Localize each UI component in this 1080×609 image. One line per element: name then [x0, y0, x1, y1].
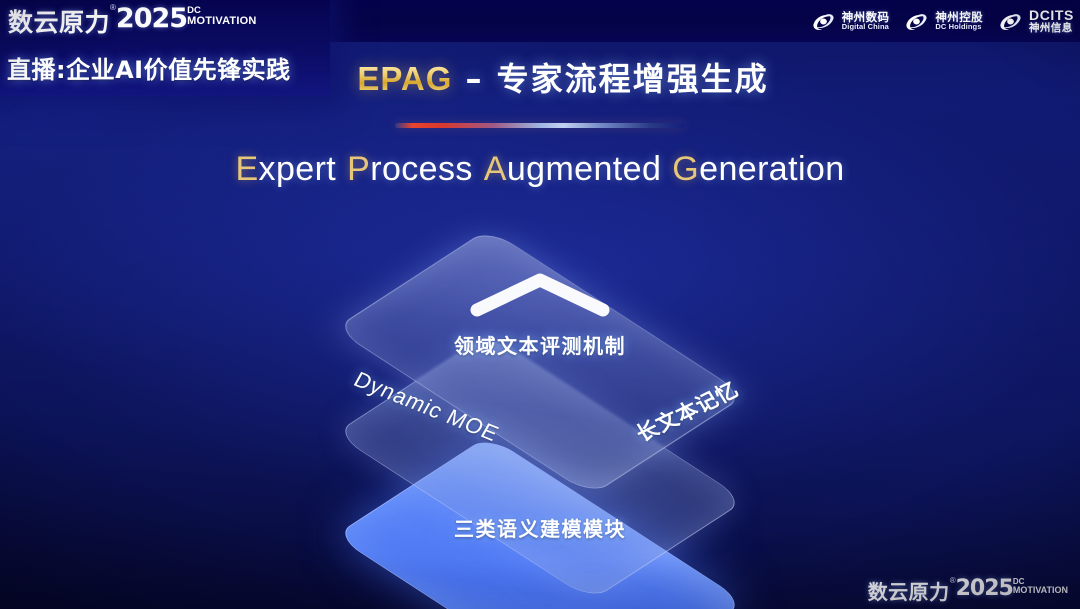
- brand-dc-motivation: DC MOTIVATION: [187, 6, 256, 27]
- partner-name-en: Digital China: [842, 23, 890, 31]
- partner-name-en: DCITS: [1029, 8, 1074, 23]
- chevron-up-icon: [465, 268, 615, 320]
- subtitle-word-generation: Generation: [672, 150, 844, 188]
- subtitle-initial: P: [347, 150, 370, 188]
- partner-text: 神州数码 Digital China: [842, 11, 890, 31]
- subtitle-word-augmented: Augmented: [484, 150, 662, 188]
- brand-year: 2025: [956, 576, 1013, 601]
- partner-text: 神州控股 DC Holdings: [935, 11, 983, 31]
- partner-logo-dcits: DCITS 神州信息: [997, 8, 1074, 35]
- brand-logo-top-left: 数云原力 ® 2025 DC MOTIVATION: [8, 3, 257, 39]
- swirl-logo-icon: [810, 8, 837, 35]
- subtitle-initial: G: [672, 150, 699, 188]
- brand-motivation-line: MOTIVATION: [187, 15, 256, 27]
- subtitle-initial: A: [484, 150, 507, 188]
- stack-layer-bottom-label: 三类语义建模模块: [454, 513, 626, 542]
- partner-text: DCITS 神州信息: [1029, 8, 1074, 34]
- subtitle-word-rest: rocess: [370, 150, 473, 188]
- swirl-logo-icon: [903, 8, 930, 35]
- slide-canvas: 数云原力 ® 2025 DC MOTIVATION 直播:企业AI价值先锋实践 …: [0, 0, 1080, 609]
- title-acronym: EPAG: [357, 60, 452, 97]
- brand-motivation-line: MOTIVATION: [1013, 585, 1068, 595]
- swirl-logo-icon: [997, 8, 1024, 35]
- subtitle-initial: E: [235, 150, 258, 188]
- subtitle-word-expert: Expert: [235, 150, 336, 188]
- subtitle: ExpertProcessAugmentedGeneration: [0, 150, 1080, 189]
- partner-logo-digital-china: 神州数码 Digital China: [810, 8, 890, 35]
- brand-year: 2025: [116, 3, 187, 34]
- brand-name-cn: 数云原力: [868, 576, 950, 605]
- partner-logo-dc-holdings: 神州控股 DC Holdings: [903, 8, 983, 35]
- title-divider: [395, 123, 685, 128]
- partner-name-cn: 神州信息: [1029, 23, 1074, 34]
- subtitle-word-rest: xpert: [259, 150, 337, 188]
- stack-layer-top-label: 领域文本评测机制: [454, 330, 626, 359]
- brand-dc-motivation: DC MOTIVATION: [1013, 578, 1068, 595]
- title-separator: –: [452, 60, 496, 98]
- partner-logo-group: 神州数码 Digital China 神州控股 DC Holdings: [810, 4, 1074, 38]
- subtitle-word-rest: eneration: [699, 150, 844, 188]
- title-chinese: 专家流程增强生成: [497, 60, 769, 98]
- page-title: EPAG – 专家流程增强生成: [0, 54, 1080, 100]
- partner-name-en: DC Holdings: [935, 23, 983, 31]
- layered-stack-diagram: 领域文本评测机制 Dynamic MOE 长文本记忆 三类语义建模模块: [266, 212, 814, 584]
- subtitle-word-process: Process: [347, 150, 473, 188]
- subtitle-word-rest: ugmented: [507, 150, 661, 188]
- brand-name-cn: 数云原力: [8, 3, 110, 39]
- brand-logo-bottom-right: 数云原力 ® 2025 DC MOTIVATION: [868, 576, 1068, 605]
